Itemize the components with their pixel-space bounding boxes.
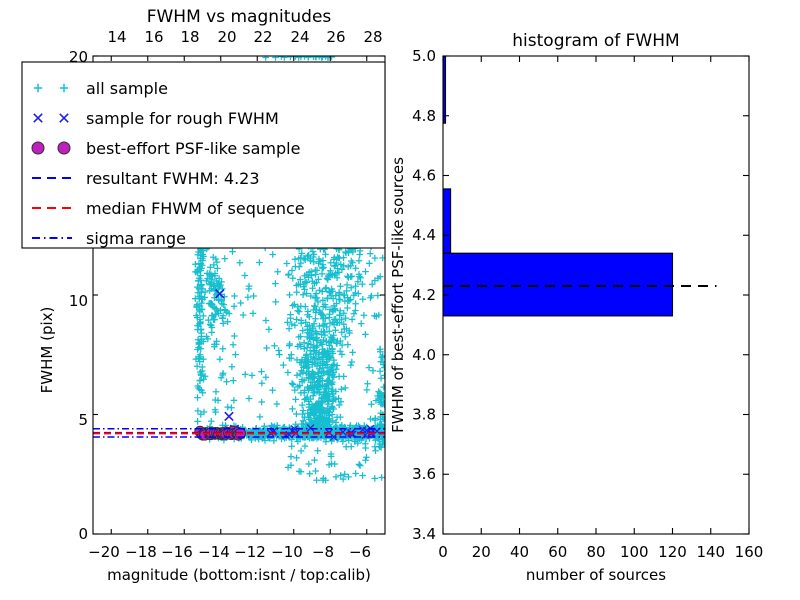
hist-y-tick-1: 3.6: [412, 465, 436, 483]
hist-y-tick-4: 4.2: [412, 286, 436, 304]
matplotlib-figure: FWHM vs magnitudes 14 16 18 20 22 24 26 …: [0, 0, 800, 600]
y-tick-0: 0: [78, 525, 88, 543]
x-tick-6: −8: [312, 543, 334, 561]
hist-x-ticklabels: 020406080100120140160: [438, 543, 763, 561]
scatter-ylabel: FWHM (pix): [38, 307, 56, 394]
top-tick-0: 14: [107, 28, 126, 46]
x-tick-1: −18: [125, 543, 157, 561]
x-tick-7: −6: [349, 543, 371, 561]
histogram-bar: [443, 189, 451, 253]
hist-ylabel: FWHM of best-effort PSF-like sources: [389, 157, 407, 433]
x-tick-4: −12: [234, 543, 266, 561]
top-tick-1: 16: [144, 28, 163, 46]
hist-x-tick-6: 120: [658, 543, 687, 561]
scatter-title: FWHM vs magnitudes: [147, 7, 332, 27]
legend-label-1: sample for rough FWHM: [86, 109, 279, 128]
hist-x-tick-3: 60: [548, 543, 567, 561]
hist-y-tick-7: 4.8: [412, 107, 436, 125]
hist-y-tick-6: 4.6: [412, 167, 436, 185]
x-tick-3: −14: [198, 543, 230, 561]
top-tick-5: 24: [290, 28, 309, 46]
scatter-xlabel: magnitude (bottom:isnt / top:calib): [107, 566, 371, 584]
hist-x-tick-5: 100: [620, 543, 649, 561]
hist-y-tick-5: 4.4: [412, 226, 436, 244]
hist-y-ticklabels: 3.43.63.84.04.24.44.64.85.0: [412, 47, 436, 543]
y-tick-10: 10: [69, 292, 88, 310]
legend-label-5: sigma range: [86, 229, 186, 248]
hist-title: histogram of FWHM: [512, 31, 679, 51]
hist-y-tick-2: 3.8: [412, 406, 436, 424]
hist-x-tick-8: 160: [735, 543, 764, 561]
panel-histogram-of-fwhm: histogram of FWHM 3.43.63.84.04.24.44.64…: [389, 31, 763, 584]
figure-canvas: FWHM vs magnitudes 14 16 18 20 22 24 26 …: [0, 0, 800, 600]
x-tick-2: −16: [161, 543, 193, 561]
histogram-bar: [443, 253, 673, 316]
hist-x-tick-7: 140: [696, 543, 725, 561]
x-tick-5: −10: [271, 543, 303, 561]
top-tick-2: 18: [180, 28, 199, 46]
histogram-bars: [443, 56, 673, 316]
scatter-x-ticklabels: −20 −18 −16 −14 −12 −10 −8 −6: [88, 543, 371, 561]
hist-y-tick-8: 5.0: [412, 47, 436, 65]
top-tick-4: 22: [253, 28, 272, 46]
hist-bars-layer: [443, 56, 717, 316]
y-tick-5: 5: [78, 411, 88, 429]
scatter-top-ticklabels: 14 16 18 20 22 24 26 28: [107, 28, 382, 46]
legend-label-0: all sample: [86, 79, 168, 98]
x-tick-0: −20: [88, 543, 120, 561]
legend-label-4: median FHWM of sequence: [86, 199, 305, 218]
hist-x-tick-4: 80: [586, 543, 605, 561]
top-tick-6: 26: [326, 28, 345, 46]
legend-box[interactable]: all samplesample for rough FWHMbest-effo…: [22, 62, 385, 248]
hist-x-tick-1: 20: [472, 543, 491, 561]
legend-label-3: resultant FWHM: 4.23: [86, 169, 260, 188]
hist-y-tick-0: 3.4: [412, 525, 436, 543]
hist-x-tick-2: 40: [510, 543, 529, 561]
hist-x-tick-0: 0: [438, 543, 448, 561]
hist-y-tick-3: 4.0: [412, 346, 436, 364]
legend-label-2: best-effort PSF-like sample: [86, 139, 300, 158]
top-tick-7: 28: [363, 28, 382, 46]
top-tick-3: 20: [217, 28, 236, 46]
hist-xlabel: number of sources: [526, 566, 666, 584]
